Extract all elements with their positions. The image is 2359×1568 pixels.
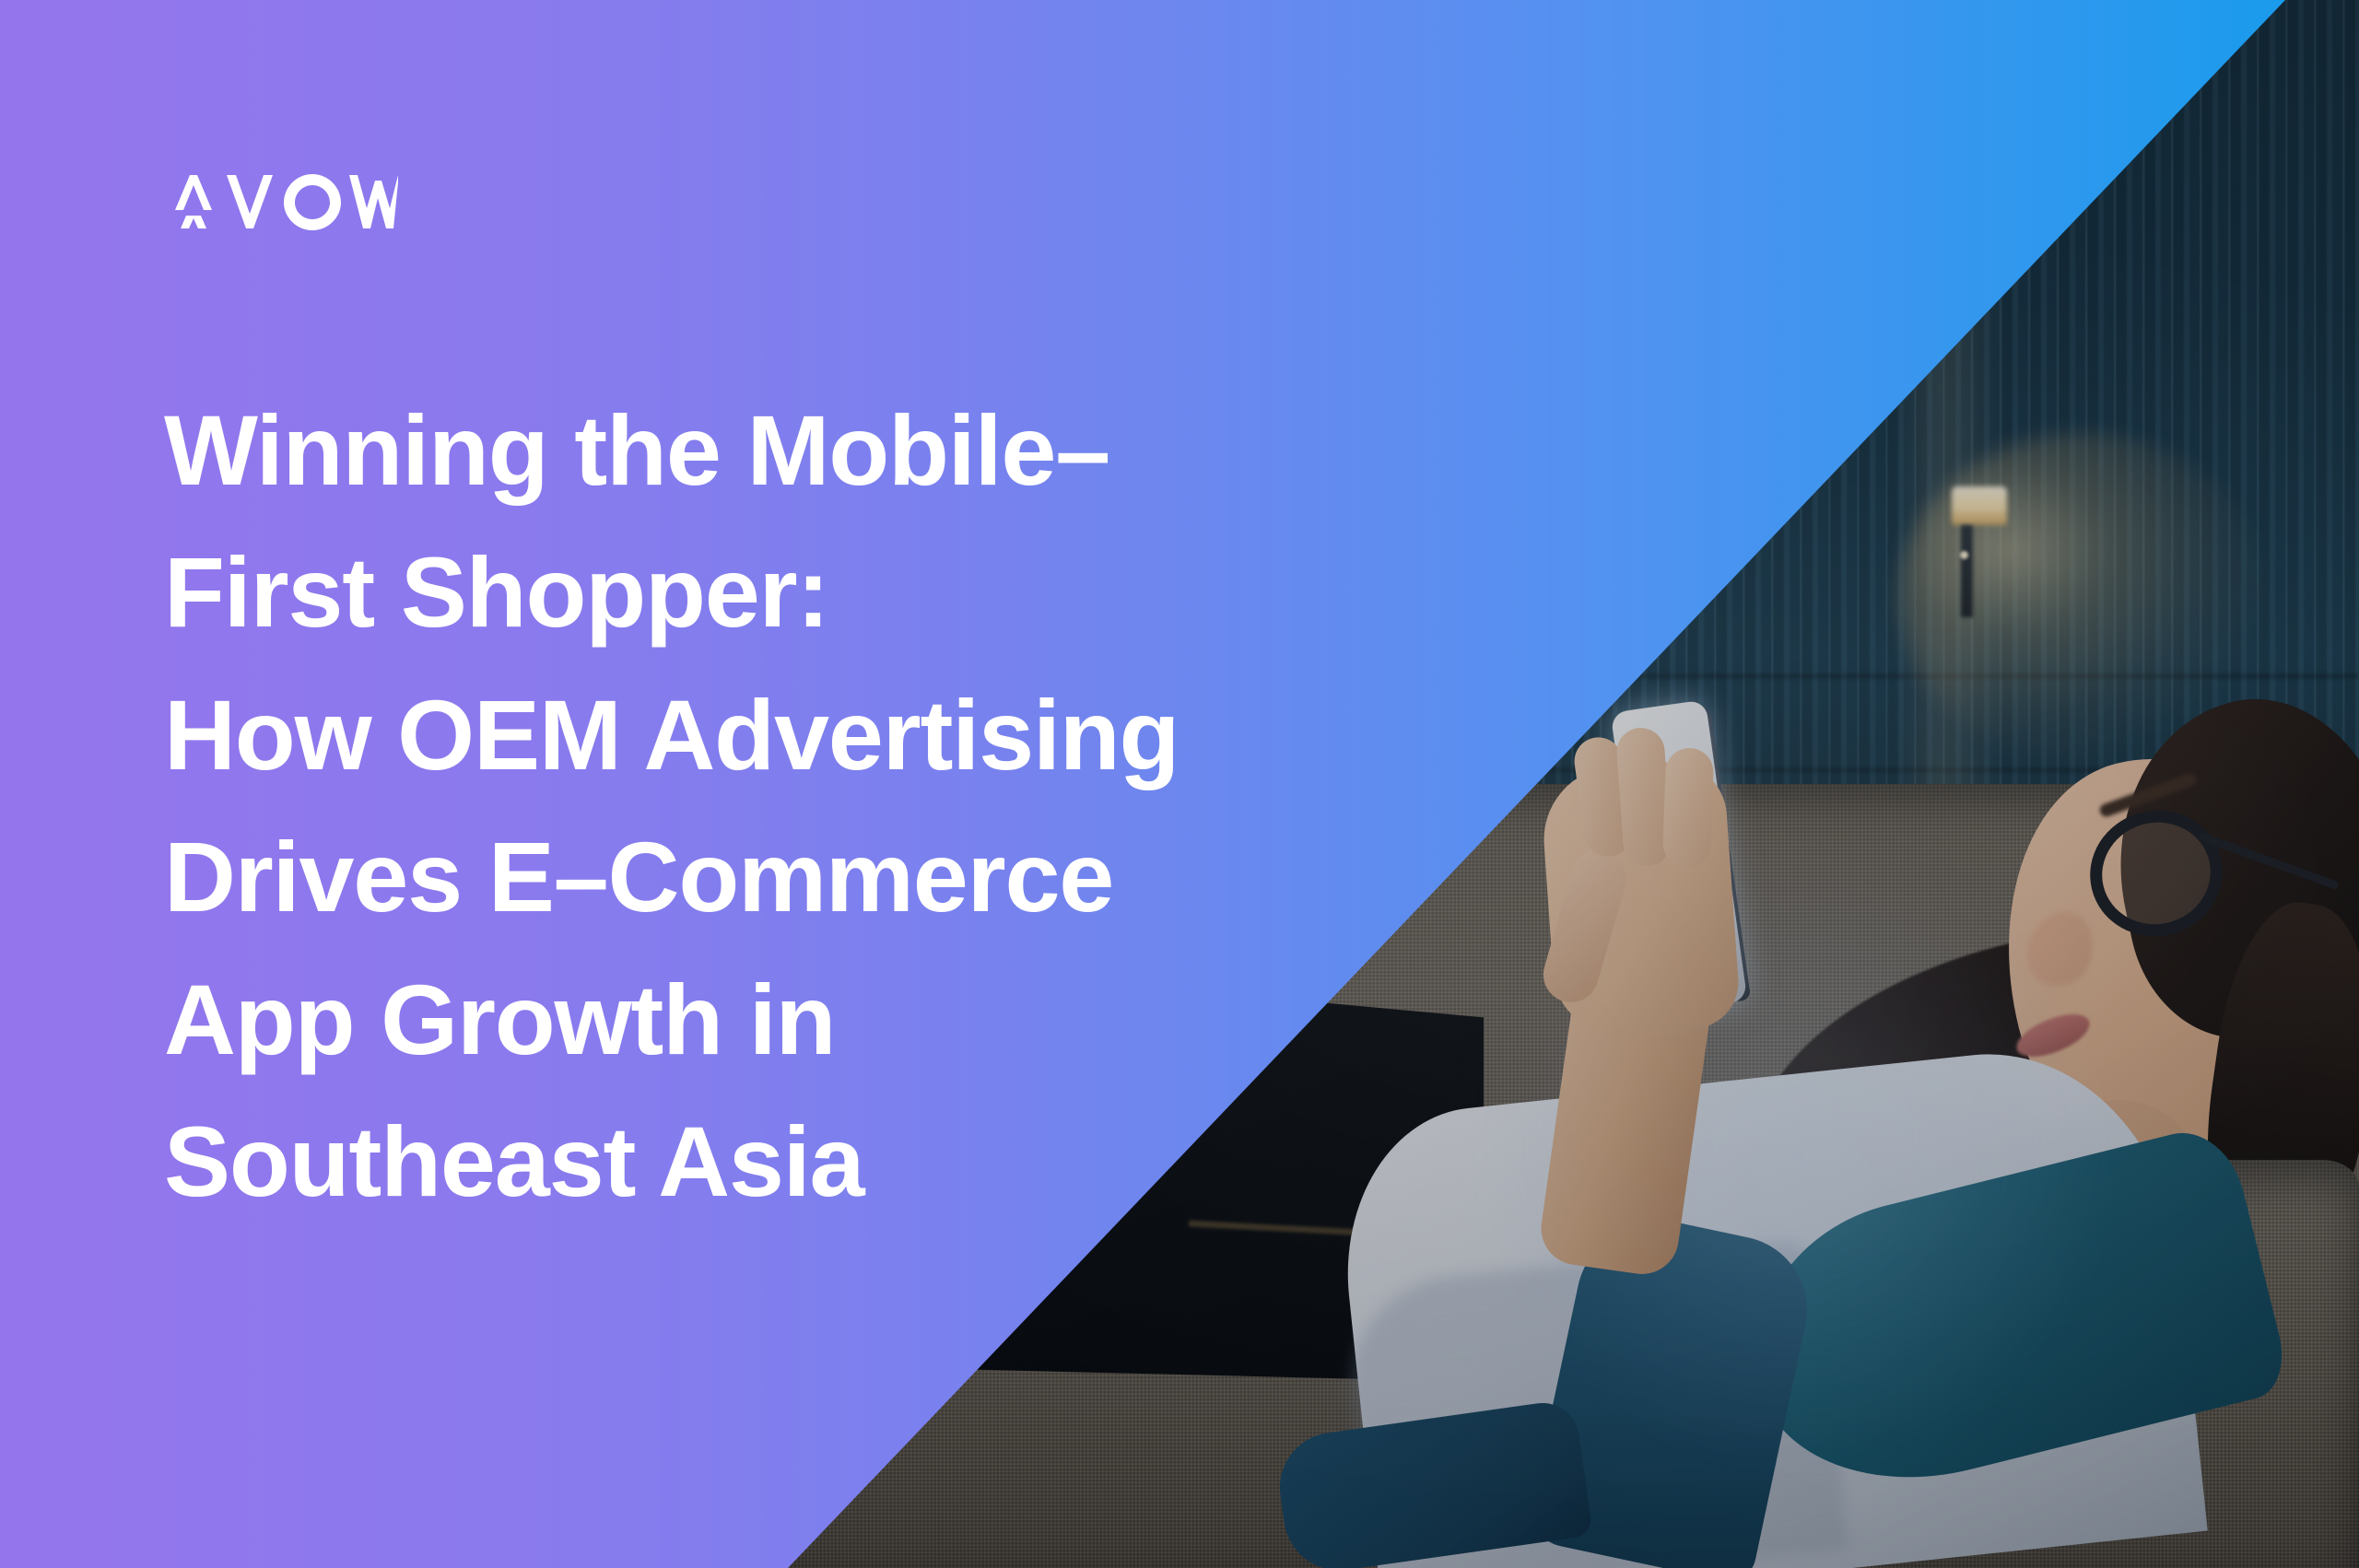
title-line-5: App Growth in — [164, 949, 1602, 1091]
wall-lamp-icon — [1952, 486, 2007, 525]
logo-letter-w — [349, 175, 398, 228]
title-line-6: Southeast Asia — [164, 1091, 1602, 1233]
title-line-2: First Shopper: — [164, 521, 1602, 663]
page-title: Winning the Mobile– First Shopper: How O… — [164, 380, 1602, 1234]
logo-letter-v — [227, 175, 273, 228]
avow-logo[interactable] — [166, 173, 398, 230]
logo-letter-a — [175, 175, 212, 228]
lamp-stem — [1961, 525, 1973, 617]
title-line-3: How OEM Advertising — [164, 664, 1602, 806]
logo-letter-o — [284, 174, 341, 230]
lamp-indicator — [1960, 551, 1968, 559]
finger — [1662, 747, 1715, 869]
title-line-1: Winning the Mobile– — [164, 380, 1602, 521]
title-line-4: Drives E–Commerce — [164, 806, 1602, 948]
hero-banner: Winning the Mobile– First Shopper: How O… — [0, 0, 2359, 1568]
